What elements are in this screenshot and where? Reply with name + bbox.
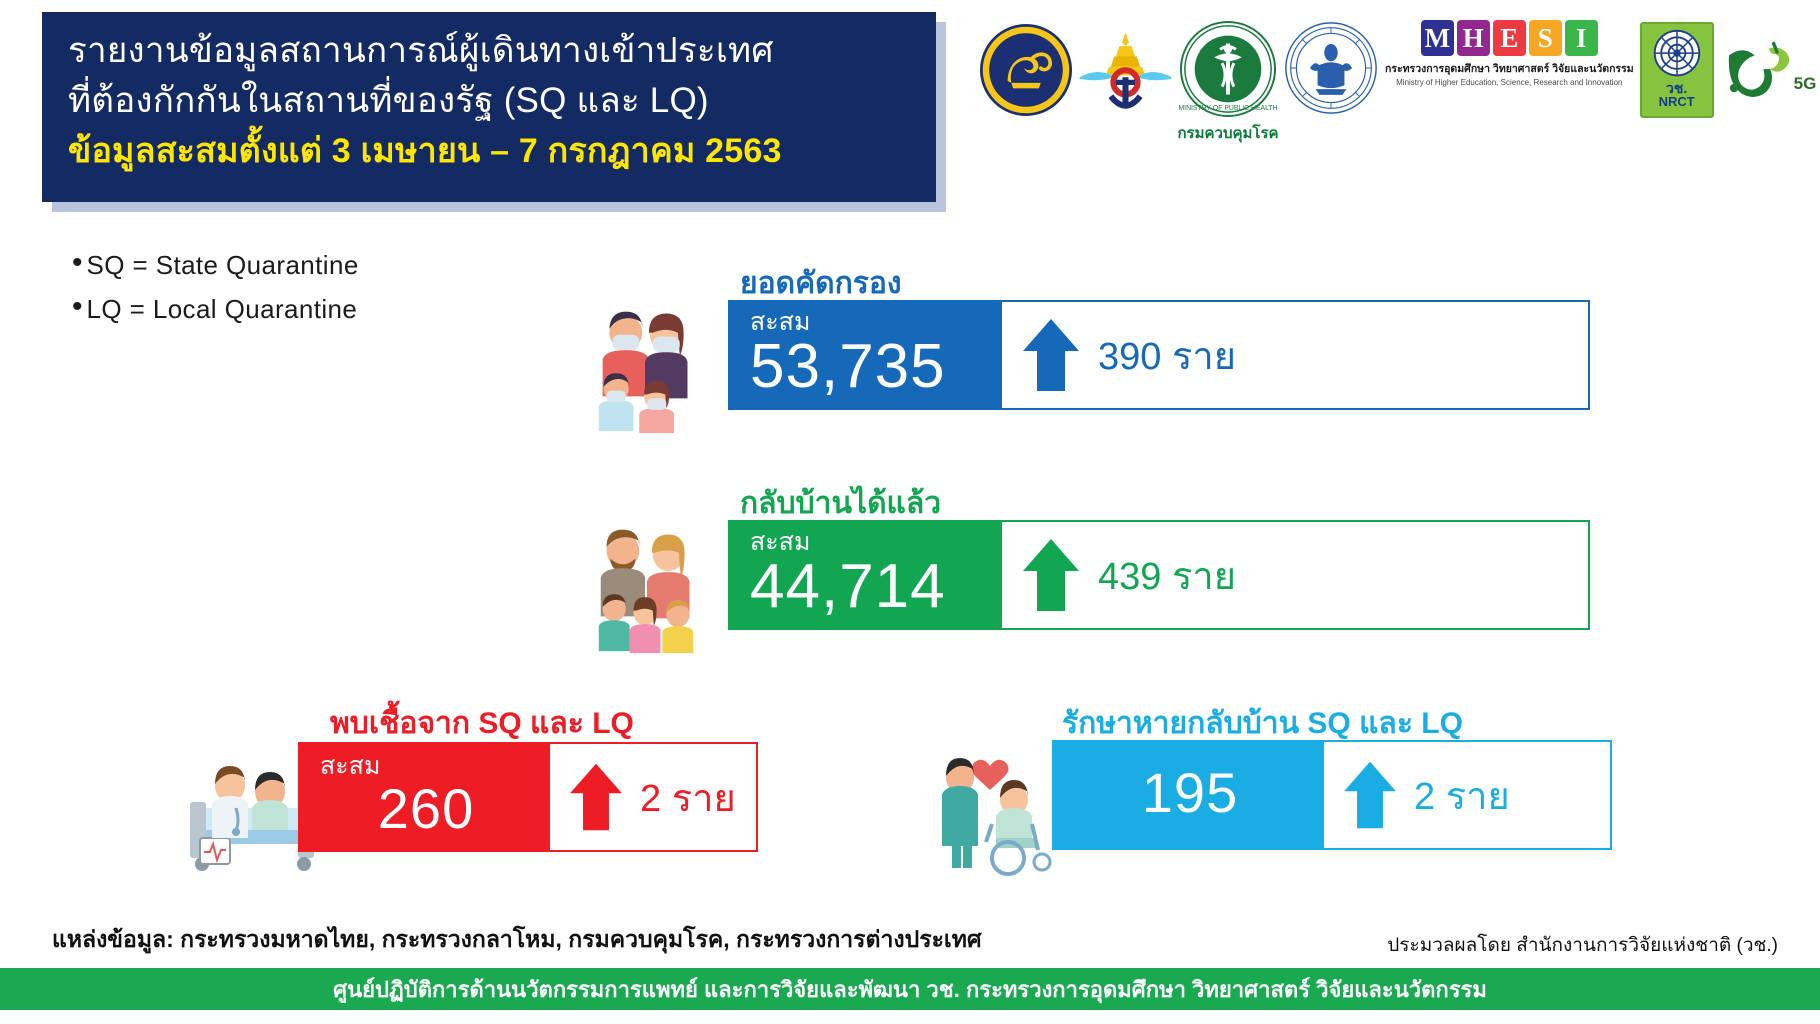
wachi-5g-logo: 5G xyxy=(1720,40,1817,100)
card-body-infected: สะสม 260 2 ราย xyxy=(298,742,758,852)
mhesi-letter-h: H xyxy=(1457,20,1490,56)
card-value-returned-home: 44,714 xyxy=(750,556,984,618)
card-left-screened: สะสม 53,735 xyxy=(730,302,1002,408)
fiveg-label: 5G xyxy=(1794,74,1817,94)
nrct-logo: วช. NRCT xyxy=(1640,22,1714,118)
svg-text:MINISTRY OF PUBLIC HEALTH: MINISTRY OF PUBLIC HEALTH xyxy=(1179,105,1277,112)
arrow-up-icon xyxy=(1020,315,1082,395)
legend-item-label: LQ = Local Quarantine xyxy=(87,294,358,324)
mhesi-letter-tiles: M H E S I xyxy=(1421,20,1598,56)
card-value-infected: 260 xyxy=(320,780,532,838)
moph-caption: กรมควบคุมโรค xyxy=(1177,121,1278,145)
mhesi-letter-m: M xyxy=(1421,20,1454,56)
mhesi-letter-s: S xyxy=(1529,20,1562,56)
title-block: รายงานข้อมูลสถานการณ์ผู้เดินทางเข้าประเท… xyxy=(42,12,936,202)
card-right-recovered: 2 ราย xyxy=(1324,742,1610,848)
footer-bar: ศูนย์ปฏิบัติการด้านนวัตกรรมการแพทย์ และก… xyxy=(0,968,1820,1010)
card-left-recovered: 195 xyxy=(1054,742,1324,848)
card-left-infected: สะสม 260 xyxy=(300,744,550,850)
mhesi-english-label: Ministry of Higher Education, Science, R… xyxy=(1396,78,1622,87)
credit-line: ประมวลผลโดย สำนักงานการวิจัยแห่งชาติ (วช… xyxy=(1387,930,1778,960)
arrow-up-icon xyxy=(1020,535,1082,615)
wachi-swoosh-icon xyxy=(1720,40,1798,100)
legend-item-label: SQ = State Quarantine xyxy=(87,250,359,280)
delta-infected: 2 ราย xyxy=(640,767,736,828)
ministry-of-public-health-icon: MINISTRY OF PUBLIC HEALTH กรมควบคุมโรค xyxy=(1179,20,1277,123)
ministry-of-interior-icon xyxy=(980,24,1072,121)
card-right-infected: 2 ราย xyxy=(550,744,756,850)
legend-item-sq: • SQ = State Quarantine xyxy=(72,250,502,280)
bullet-icon: • xyxy=(72,250,83,276)
card-heading-infected: พบเชื้อจาก SQ และ LQ xyxy=(330,700,634,747)
family-icon xyxy=(588,520,706,660)
mhesi-thai-label: กระทรวงการอุดมศึกษา วิทยาศาสตร์ วิจัยและ… xyxy=(1385,60,1634,77)
title-line-1: รายงานข้อมูลสถานการณ์ผู้เดินทางเข้าประเท… xyxy=(68,26,936,76)
card-right-screened: 390 ราย xyxy=(1002,302,1588,408)
footer-bar-text: ศูนย์ปฏิบัติการด้านนวัตกรรมการแพทย์ และก… xyxy=(333,972,1487,1007)
delta-recovered: 2 ราย xyxy=(1414,765,1510,826)
title-line-2: ที่ต้องกักกันในสถานที่ของรัฐ (SQ และ LQ) xyxy=(68,76,936,126)
bullet-icon: • xyxy=(72,294,83,320)
mhesi-letter-e: E xyxy=(1493,20,1526,56)
mhesi-logo: M H E S I กระทรวงการอุดมศึกษา วิทยาศาสตร… xyxy=(1385,14,1634,87)
family-with-masks-icon xyxy=(588,300,706,440)
card-left-returned-home: สะสม 44,714 xyxy=(730,522,1002,628)
legend-item-lq: • LQ = Local Quarantine xyxy=(72,294,502,324)
arrow-up-icon xyxy=(1342,758,1398,832)
logo-row: MINISTRY OF PUBLIC HEALTH กรมควบคุมโรค xyxy=(980,14,1810,149)
card-body-screened: สะสม 53,735 390 ราย xyxy=(728,300,1590,410)
nrct-english-label: NRCT xyxy=(1659,95,1695,109)
card-value-screened: 53,735 xyxy=(750,336,984,398)
nrct-thai-label: วช. xyxy=(1666,81,1687,95)
title-line-3: ข้อมูลสะสมตั้งแต่ 3 เมษายน – 7 กรกฎาคม 2… xyxy=(68,126,936,176)
mhesi-letter-i: I xyxy=(1565,20,1598,56)
nurse-with-wheelchair-patient-icon xyxy=(930,738,1060,883)
accum-label: สะสม xyxy=(320,752,532,780)
ministry-of-defense-icon xyxy=(1078,26,1173,123)
card-body-recovered: 195 2 ราย xyxy=(1052,740,1612,850)
card-body-returned-home: สะสม 44,714 439 ราย xyxy=(728,520,1590,630)
delta-screened: 390 ราย xyxy=(1098,325,1236,386)
infographic-canvas: รายงานข้อมูลสถานการณ์ผู้เดินทางเข้าประเท… xyxy=(0,0,1820,1024)
nrct-wheel-icon xyxy=(1649,28,1705,80)
delta-returned-home: 439 ราย xyxy=(1098,545,1236,606)
card-value-recovered: 195 xyxy=(1142,764,1238,822)
department-of-disease-control-icon xyxy=(1283,20,1379,121)
legend-list: • SQ = State Quarantine • LQ = Local Qua… xyxy=(72,250,502,338)
card-right-returned-home: 439 ราย xyxy=(1002,522,1588,628)
arrow-up-icon xyxy=(568,760,624,834)
source-line: แหล่งข้อมูล: กระทรวงมหาดไทย, กระทรวงกลาโ… xyxy=(52,922,982,958)
